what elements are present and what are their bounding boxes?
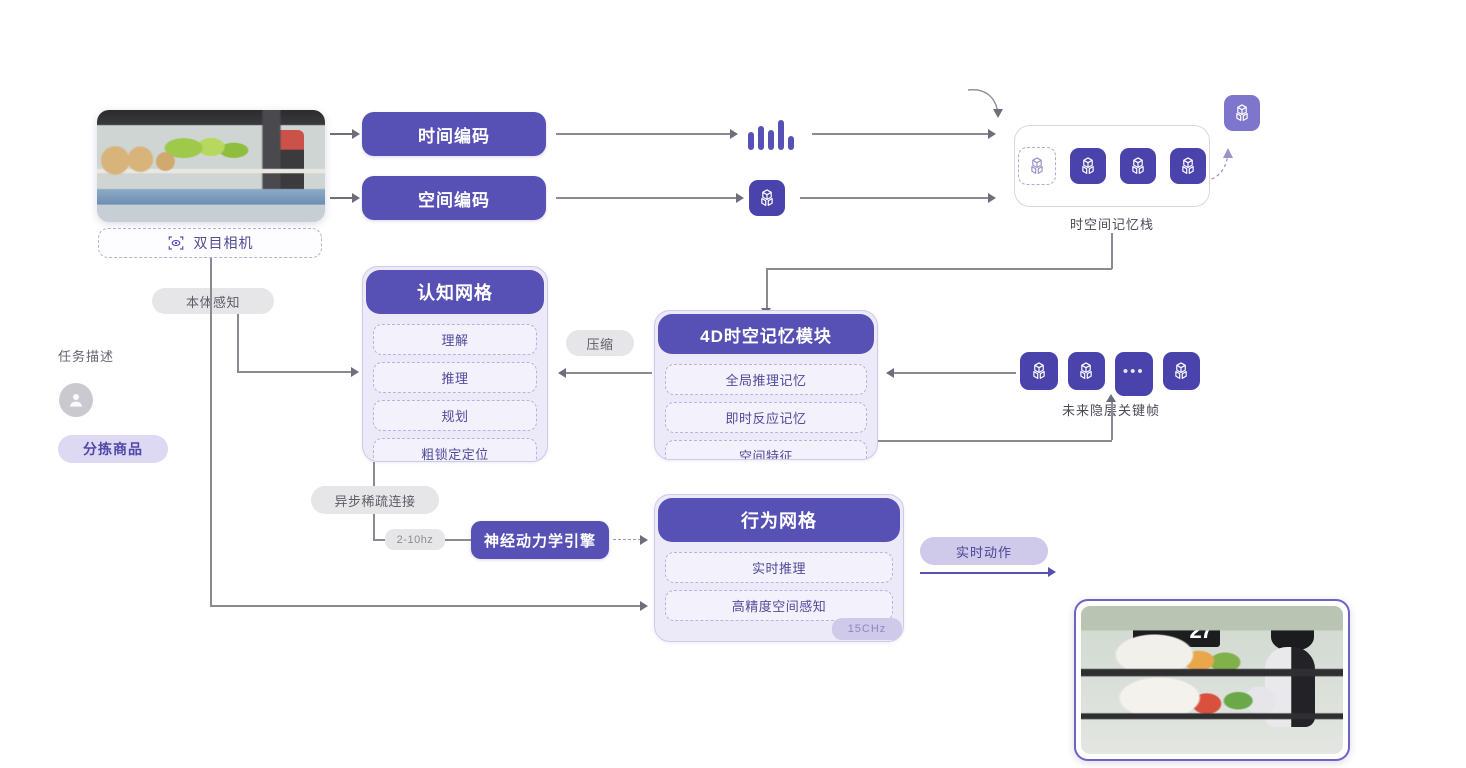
bus-camera-down	[210, 258, 212, 606]
edge-photo-temporal	[330, 133, 354, 135]
bus-proprio-to-cognitive	[237, 371, 353, 373]
realtime-action-tag: 实时动作	[920, 537, 1048, 565]
memory-module-items: 全局推理记忆 即时反应记忆 空间特征	[655, 357, 877, 460]
robot-figure-graphic	[1259, 615, 1327, 748]
input-scene-photo	[97, 110, 325, 222]
behavior-item-0[interactable]: 实时推理	[665, 552, 893, 583]
spatiotemporal-memory-stack	[1014, 125, 1210, 207]
cognitive-item-0[interactable]: 理解	[373, 324, 537, 355]
cognitive-grid-title-text: 认知网格	[417, 279, 493, 305]
input-scene-photo-inner	[97, 110, 325, 222]
memory-item-0-label: 全局推理记忆	[725, 373, 806, 388]
edge-engine-behavior-arrow	[640, 535, 648, 545]
robot-head	[1271, 615, 1313, 650]
memory-stack-caption-text: 时空间记忆栈	[1070, 217, 1154, 232]
memory-item-1-label: 即时反应记忆	[725, 411, 806, 426]
keyframe-tile-3[interactable]	[1163, 352, 1201, 390]
task-description-text: 任务描述	[58, 349, 114, 364]
behavior-frequency-badge: 15CHz	[832, 618, 902, 640]
edge-spatial-cube	[556, 197, 738, 199]
cognitive-grid-items: 理解 推理 规划 粗锁定定位	[363, 317, 547, 462]
realtime-action-label: 实时动作	[956, 542, 1012, 561]
spatial-encoder-button[interactable]: 空间编码	[362, 176, 546, 220]
spatial-encoder-label: 空间编码	[418, 186, 490, 211]
temporal-encoder-label: 时间编码	[418, 122, 490, 147]
shelf-robot-graphic	[268, 130, 304, 204]
spatial-cube-icon	[749, 180, 785, 216]
behavior-grid-title-text: 行为网格	[741, 507, 817, 533]
memory-module-title-text: 4D时空记忆模块	[700, 322, 832, 347]
behavior-item-0-label: 实时推理	[752, 561, 806, 576]
keyframe-tile-1[interactable]	[1068, 352, 1106, 390]
cognitive-grid-module: 认知网格 理解 推理 规划 粗锁定定位	[362, 266, 548, 462]
edge-cube-stack-arrow	[988, 193, 996, 203]
keyframe-tile-ellipsis[interactable]: •••	[1115, 352, 1153, 396]
binocular-camera-text: 双目相机	[194, 233, 254, 253]
edge-cube-stack	[800, 197, 990, 199]
cognitive-item-3-label: 粗锁定定位	[421, 447, 489, 462]
memory-stack-tile-3[interactable]	[1170, 148, 1206, 184]
binocular-camera-label: 双目相机	[98, 228, 322, 258]
edge-curve-in	[962, 86, 1018, 130]
cognitive-item-0-label: 理解	[441, 333, 468, 348]
market-scene-graphic: 27	[1081, 606, 1343, 754]
future-keyframes-group: •••	[1020, 352, 1200, 392]
output-scene-photo-inner: 27	[1081, 606, 1343, 754]
edge-keyframes-module	[894, 372, 1016, 374]
ellipsis-icon: •••	[1123, 364, 1145, 379]
async-sparse-tag: 异步稀疏连接	[311, 486, 439, 514]
bus-proprio-arrow	[351, 367, 359, 377]
behavior-grid-title: 行为网格	[658, 498, 900, 542]
async-sparse-label: 异步稀疏连接	[334, 491, 415, 510]
frequency-tag: 2-10hz	[385, 529, 445, 550]
edge-module-feedback-h	[878, 440, 1112, 442]
floating-cube-tile	[1224, 95, 1260, 131]
edge-photo-spatial	[330, 197, 354, 199]
behavior-item-1[interactable]: 高精度空间感知	[665, 590, 893, 621]
edge-photo-temporal-arrow	[352, 129, 360, 139]
bus-camera-to-behavior-arrow	[640, 601, 648, 611]
task-value-badge: 分拣商品	[58, 435, 168, 463]
scan-eye-icon	[167, 234, 185, 252]
edge-compress-line	[566, 372, 652, 374]
price-sign-value: 27	[1190, 618, 1212, 644]
edge-wave-stack-arrow	[988, 129, 996, 139]
cognitive-item-2-label: 规划	[441, 409, 468, 424]
memory-module-title: 4D时空记忆模块	[658, 314, 874, 354]
memory-module: 4D时空记忆模块 全局推理记忆 即时反应记忆 空间特征	[654, 310, 878, 460]
memory-item-2-label: 空间特征	[739, 449, 793, 460]
edge-module-feedback-v	[1111, 400, 1113, 440]
price-sign: 27	[1133, 615, 1220, 648]
output-scene-photo: 27	[1074, 599, 1350, 761]
edge-temporal-wave	[556, 133, 732, 135]
behavior-frequency-label: 15CHz	[848, 623, 887, 635]
proprioception-tag: 本体感知	[152, 288, 274, 314]
edge-wave-stack	[812, 133, 990, 135]
cognitive-item-3[interactable]: 粗锁定定位	[373, 438, 537, 462]
memory-item-2[interactable]: 空间特征	[665, 440, 867, 460]
memory-stack-tile-2[interactable]	[1120, 148, 1156, 184]
neural-dynamics-engine[interactable]: 神经动力学引擎	[471, 521, 609, 559]
memory-stack-tile-1[interactable]	[1070, 148, 1106, 184]
cognitive-item-1[interactable]: 推理	[373, 362, 537, 393]
edge-behavior-output-arrow	[1048, 567, 1056, 577]
cognitive-item-1-label: 推理	[441, 371, 468, 386]
temporal-encoder-button[interactable]: 时间编码	[362, 112, 546, 156]
waveform-icon	[748, 118, 794, 150]
user-avatar-icon	[59, 383, 93, 417]
task-value-text: 分拣商品	[83, 439, 143, 459]
frequency-label: 2-10hz	[397, 534, 434, 546]
proprioception-label: 本体感知	[186, 292, 240, 311]
edge-module-feedback-arrow	[1106, 394, 1116, 402]
bus-camera-to-behavior	[210, 605, 642, 607]
neural-dynamics-engine-label: 神经动力学引擎	[484, 530, 596, 551]
edge-engine-behavior	[613, 539, 641, 540]
memory-item-0[interactable]: 全局推理记忆	[665, 364, 867, 395]
memory-stack-tile-0[interactable]	[1018, 147, 1056, 185]
edge-photo-spatial-arrow	[352, 193, 360, 203]
cognitive-item-2[interactable]: 规划	[373, 400, 537, 431]
shelf-scene-graphic	[97, 110, 325, 222]
memory-item-1[interactable]: 即时反应记忆	[665, 402, 867, 433]
edge-stack-down-v	[1111, 233, 1113, 269]
bus-proprio-down	[237, 314, 239, 372]
compress-label: 压缩	[586, 334, 613, 353]
diagram-canvas: 双目相机 本体感知 任务描述 分拣商品 时间编码 空间编码	[0, 0, 1466, 768]
edge-stack-down-h	[766, 268, 1112, 270]
robot-arm	[1242, 683, 1280, 718]
robot-torso	[1265, 647, 1315, 727]
cognitive-grid-title: 认知网格	[366, 270, 544, 314]
edge-stack-into-module-v	[766, 268, 768, 310]
task-description-label: 任务描述	[58, 346, 114, 365]
compress-tag: 压缩	[566, 330, 634, 356]
memory-stack-caption: 时空间记忆栈	[1014, 214, 1210, 233]
keyframe-tile-0[interactable]	[1020, 352, 1058, 390]
behavior-item-1-label: 高精度空间感知	[732, 599, 827, 614]
edge-behavior-output	[920, 572, 1050, 574]
edge-compress-arrow	[558, 368, 566, 378]
edge-spatial-cube-arrow	[736, 193, 744, 203]
edge-temporal-wave-arrow	[730, 129, 738, 139]
edge-keyframes-module-arrow	[886, 368, 894, 378]
